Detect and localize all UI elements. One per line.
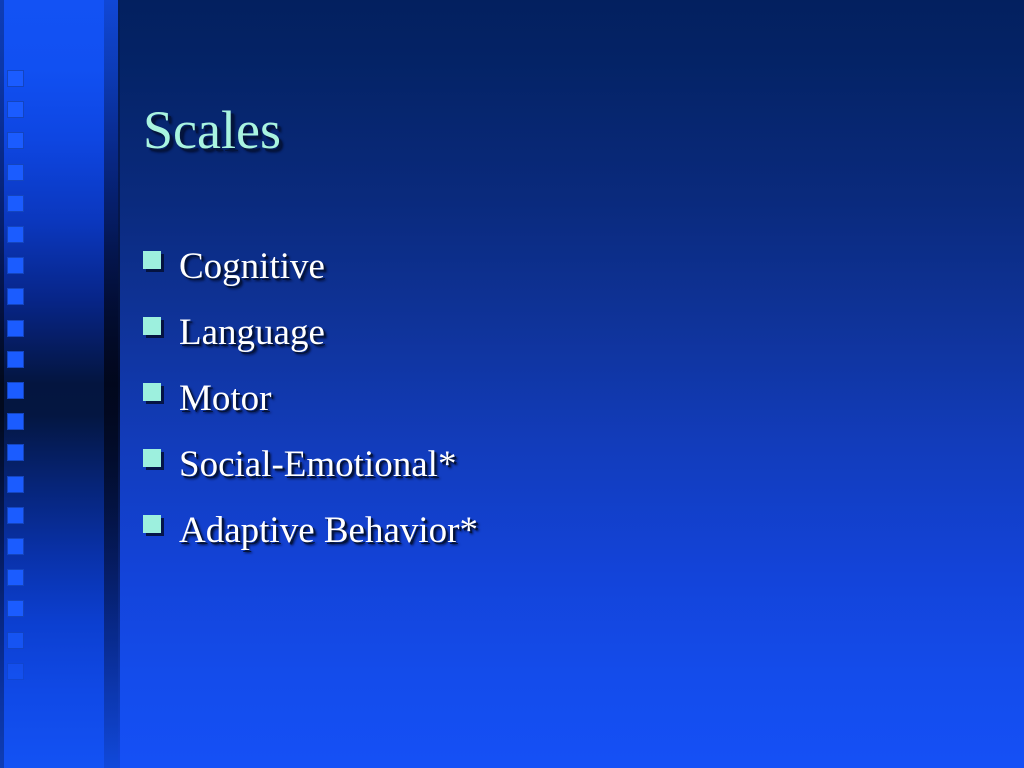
bullet-item-label: Adaptive Behavior*	[179, 509, 478, 553]
band-square	[7, 288, 24, 305]
band-square	[7, 600, 24, 617]
bullet-item-label: Language	[179, 311, 325, 355]
scales-bullet-list: CognitiveLanguageMotorSocial-Emotional*A…	[143, 234, 973, 564]
band-square	[7, 132, 24, 149]
presentation-slide: Scales CognitiveLanguageMotorSocial-Emot…	[0, 0, 1024, 768]
band-square	[7, 226, 24, 243]
band-square	[7, 382, 24, 399]
band-square	[7, 351, 24, 368]
bullet-item-2: Motor	[143, 366, 973, 432]
band-square	[7, 195, 24, 212]
band-square-column	[0, 0, 118, 768]
bullet-item-1: Language	[143, 300, 973, 366]
band-square	[7, 320, 24, 337]
band-square	[7, 70, 24, 87]
bullet-item-4: Adaptive Behavior*	[143, 498, 973, 564]
square-bullet-icon	[143, 449, 161, 467]
band-right-seam	[104, 0, 120, 768]
bullet-item-label: Social-Emotional*	[179, 443, 456, 487]
band-square	[7, 476, 24, 493]
band-square	[7, 538, 24, 555]
band-square	[7, 632, 24, 649]
square-bullet-icon	[143, 383, 161, 401]
band-square	[7, 101, 24, 118]
band-square	[7, 257, 24, 274]
bullet-item-label: Cognitive	[179, 245, 325, 289]
bullet-item-3: Social-Emotional*	[143, 432, 973, 498]
slide-title: Scales	[143, 97, 963, 163]
band-square	[7, 569, 24, 586]
band-square	[7, 663, 24, 680]
left-decorative-band	[0, 0, 118, 768]
band-square	[7, 164, 24, 181]
square-bullet-icon	[143, 251, 161, 269]
bullet-item-0: Cognitive	[143, 234, 973, 300]
band-square	[7, 444, 24, 461]
bullet-item-label: Motor	[179, 377, 272, 421]
square-bullet-icon	[143, 317, 161, 335]
band-square	[7, 507, 24, 524]
band-square	[7, 413, 24, 430]
square-bullet-icon	[143, 515, 161, 533]
